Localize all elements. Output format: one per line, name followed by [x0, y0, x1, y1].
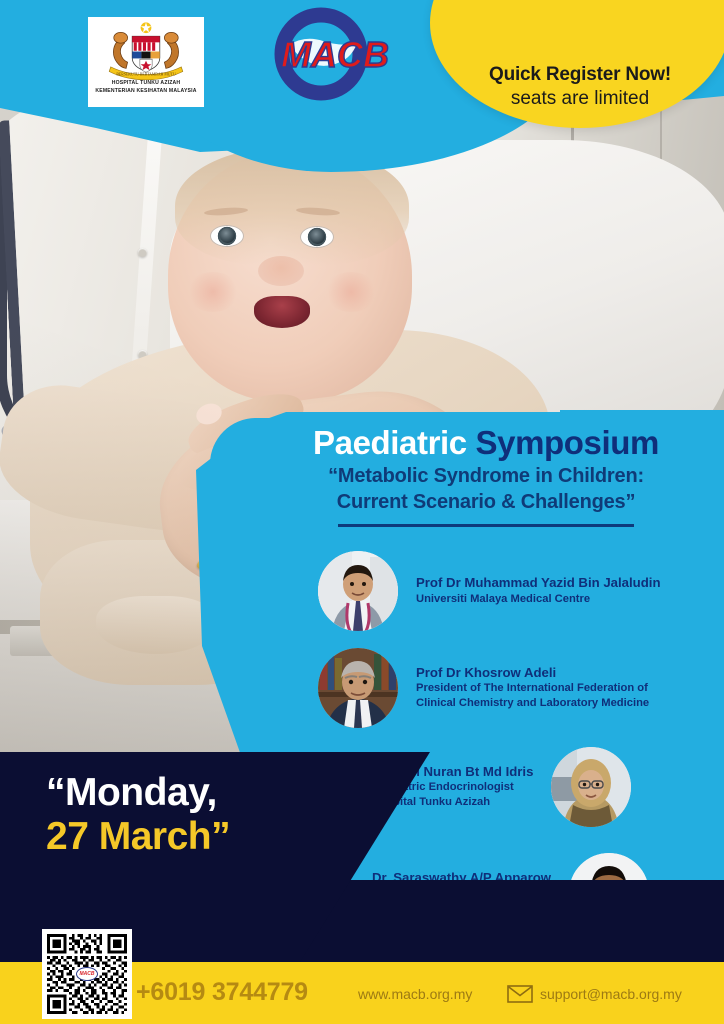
speaker-affiliation: President of The International Federatio…	[416, 681, 649, 696]
avatar	[318, 648, 398, 728]
speaker-item: Prof Dr Khosrow Adeli President of The I…	[318, 648, 649, 728]
page-title: Paediatric Symposium	[248, 425, 724, 461]
hospital-logo-line2: KEMENTERIAN KESIHATAN MALAYSIA	[95, 88, 196, 96]
speaker-affiliation-2: Clinical Chemistry and Laboratory Medici…	[416, 696, 649, 711]
speaker-name: Prof Dr Muhammad Yazid Bin Jalaludin	[416, 575, 661, 592]
date-text: “Monday, 27 March”	[46, 772, 376, 858]
title-word-paediatric: Paediatric	[313, 424, 467, 461]
speaker-text: Prof Dr Muhammad Yazid Bin Jalaludin Uni…	[416, 575, 661, 606]
macb-logo: MACB	[255, 5, 410, 103]
title-word-symposium: Symposium	[476, 424, 659, 461]
speaker-affiliation: Universiti Malaya Medical Centre	[416, 592, 661, 607]
title-divider	[338, 524, 634, 527]
avatar	[318, 551, 398, 631]
qr-center-logo: MACB	[76, 967, 98, 981]
speaker-text: Prof Dr Khosrow Adeli President of The I…	[416, 665, 649, 711]
speaker-item: Prof Dr Muhammad Yazid Bin Jalaludin Uni…	[318, 551, 661, 631]
date-value: 27 March”	[46, 816, 376, 858]
malaysia-coat-of-arms-icon: BERSEKUTU BERTAMBAH MUTU	[100, 20, 192, 80]
speaker-name: Prof Dr Khosrow Adeli	[416, 665, 649, 682]
hospital-logo: BERSEKUTU BERTAMBAH MUTU HOSPITAL TUNKU …	[88, 17, 204, 107]
title-block: Paediatric Symposium “Metabolic Syndrome…	[248, 425, 724, 527]
portrait-dr-arini-icon	[551, 747, 631, 827]
phone-number[interactable]: +6019 3744779	[136, 978, 308, 1007]
subtitle-line-2: Current Scenario & Challenges”	[248, 491, 724, 514]
date-day: “Monday,	[46, 772, 376, 814]
poster-root: BERSEKUTU BERTAMBAH MUTU HOSPITAL TUNKU …	[0, 0, 724, 1024]
svg-text:BERSEKUTU BERTAMBAH MUTU: BERSEKUTU BERTAMBAH MUTU	[116, 72, 175, 76]
subtitle-line-1: “Metabolic Syndrome in Children:	[248, 465, 724, 488]
email-address[interactable]: support@macb.org.my	[540, 986, 682, 1002]
qr-code-pattern: MACB	[47, 934, 127, 1014]
badge-headline: Quick Register Now!	[489, 64, 671, 86]
badge-subline: seats are limited	[511, 88, 649, 110]
portrait-prof-yazid-icon	[318, 551, 398, 631]
qr-center-logo-text: MACB	[80, 971, 95, 977]
portrait-prof-adeli-icon	[318, 648, 398, 728]
qr-code[interactable]: MACB	[42, 929, 132, 1019]
macb-logo-icon: MACB	[255, 5, 410, 103]
svg-text:MACB: MACB	[281, 34, 389, 75]
envelope-icon	[507, 985, 533, 1003]
avatar	[551, 747, 631, 827]
website-url[interactable]: www.macb.org.my	[358, 986, 472, 1002]
hospital-logo-line1: HOSPITAL TUNKU AZIZAH	[112, 80, 181, 88]
